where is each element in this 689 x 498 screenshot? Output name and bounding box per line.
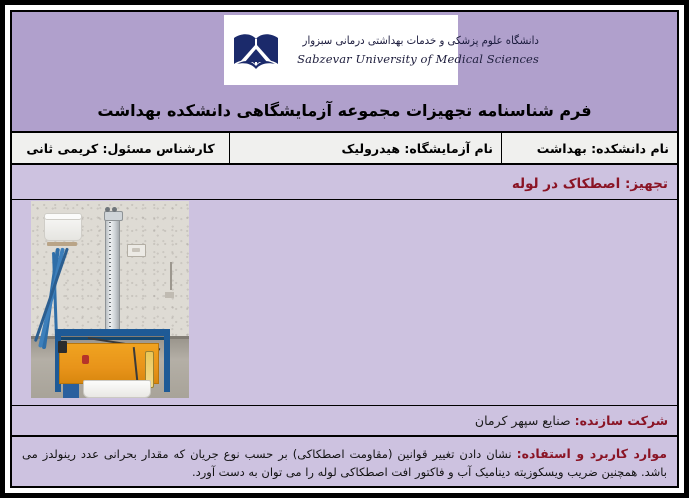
photo-wall-socket bbox=[127, 244, 146, 257]
photo-region bbox=[12, 200, 677, 406]
usage-label: موارد کاربرد و استفاده: bbox=[517, 446, 667, 461]
manufacturer-value: صنایع سپهر کرمان bbox=[475, 413, 571, 428]
university-name-persian: دانشگاه علوم پزشکی و خدمات بهداشتی درمان… bbox=[303, 34, 539, 47]
usage-band: موارد کاربرد و استفاده: نشان دادن تغییر … bbox=[12, 437, 677, 488]
equipment-band: تجهیز: اصطکاک در لوله bbox=[12, 165, 677, 200]
university-logo-block: دانشگاه علوم پزشکی و خدمات بهداشتی درمان… bbox=[224, 15, 458, 85]
photo-manometer-head bbox=[104, 211, 123, 221]
photo-manometer-valve-right bbox=[112, 207, 117, 212]
equipment-name: تجهیز: اصطکاک در لوله bbox=[512, 176, 668, 192]
photo-blue-pump-box bbox=[63, 384, 79, 398]
logo-text-stack: دانشگاه علوم پزشکی و خدمات بهداشتی درمان… bbox=[282, 18, 541, 82]
equipment-photo bbox=[31, 201, 189, 398]
photo-manometer-column bbox=[105, 217, 120, 333]
document-inner-frame: دانشگاه علوم پزشکی و خدمات بهداشتی درمان… bbox=[10, 10, 679, 488]
title-band: فرم شناسنامه تجهیزات مجموعه آزمایشگاهی د… bbox=[12, 92, 677, 131]
manufacturer-label: شرکت سازنده: bbox=[575, 413, 668, 428]
laboratory-cell: نام آزمایشگاه: هیدرولیک bbox=[229, 133, 501, 163]
photo-header-tank-rim bbox=[44, 213, 82, 220]
photo-outlet bbox=[165, 292, 174, 298]
university-name-english: Sabzevar University of Medical Sciences bbox=[297, 52, 539, 66]
expert-cell: کارشناس مسئول: کریمی ثانی bbox=[12, 133, 229, 163]
photo-bench-frame-top bbox=[55, 329, 169, 336]
document-page: دانشگاه علوم پزشکی و خدمات بهداشتی درمان… bbox=[0, 0, 689, 498]
page-title: فرم شناسنامه تجهیزات مجموعه آزمایشگاهی د… bbox=[12, 101, 677, 120]
faculty-cell: نام دانشکده: بهداشت bbox=[501, 133, 677, 163]
open-book-mountain-icon bbox=[230, 24, 282, 76]
info-table: نام دانشکده: بهداشت نام آزمایشگاه: هیدرو… bbox=[12, 131, 677, 165]
photo-cord bbox=[170, 262, 172, 290]
manufacturer-band: شرکت سازنده: صنایع سپهر کرمان bbox=[12, 406, 677, 437]
photo-header-tank-base bbox=[47, 242, 77, 246]
photo-control-box bbox=[58, 341, 67, 353]
photo-collection-basin bbox=[83, 380, 151, 398]
photo-tank-valve-knob bbox=[82, 355, 89, 364]
logo-header-band: دانشگاه علوم پزشکی و خدمات بهداشتی درمان… bbox=[12, 12, 677, 92]
photo-bench-frame-rail bbox=[55, 337, 169, 340]
photo-bench-leg-right bbox=[164, 329, 170, 392]
